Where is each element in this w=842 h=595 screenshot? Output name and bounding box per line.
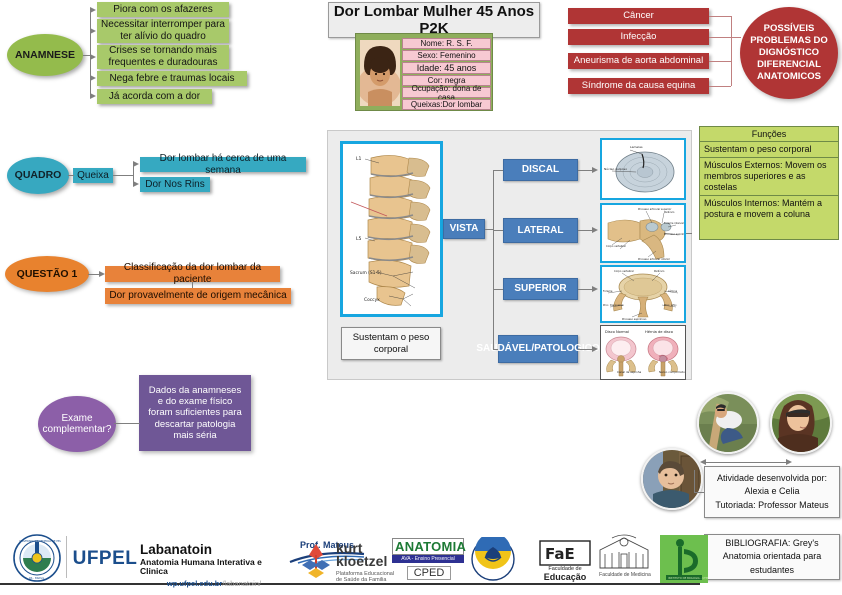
svg-text:Núcleo pulposo: Núcleo pulposo: [604, 167, 627, 171]
anamnese-item-5[interactable]: Já acorda com a dor: [97, 89, 212, 104]
connector: [68, 175, 74, 176]
credits-box: Atividade desenvolvida por: Alexia e Cel…: [704, 466, 840, 518]
title-line-1: Dor Lombar Mulher 45 Anos: [334, 3, 534, 20]
anamnese-item-2[interactable]: Necessitar interromper para ter alívio d…: [97, 19, 229, 43]
lateral-image: Processo articular superior Pedículo For…: [600, 203, 686, 263]
anamnese-item-4[interactable]: Nega febre e traumas locais: [97, 71, 247, 86]
anatomia-word: ANATOMIA: [392, 538, 464, 555]
svg-text:Pedículo: Pedículo: [664, 210, 675, 214]
quadro-mid[interactable]: Queixa: [73, 168, 113, 183]
connector: [192, 282, 193, 288]
kurt-kloetzel-icon: [295, 540, 337, 582]
bibliografia-box: BIBLIOGRAFIA: Grey's Anatomia orientada …: [704, 534, 840, 580]
funcoes-row: Músculos Externos: Movem os membros supe…: [700, 158, 838, 196]
connector: [694, 492, 704, 493]
spine-caption: Sustentam o peso corporal: [341, 327, 441, 360]
view-lateral[interactable]: LATERAL: [503, 218, 578, 243]
connector: [694, 470, 695, 492]
svg-text:L5: L5: [356, 236, 362, 242]
view-saudavel-patologico[interactable]: SAUDÁVEL/PATOLOGICO: [498, 335, 578, 363]
questao-node[interactable]: QUESTÃO 1: [5, 256, 89, 292]
faculdade-medicina-logo: Faculdade de Medicina: [592, 534, 658, 582]
labanatoin-url: wp.ufpel.edu.br/labanatoin/: [140, 579, 288, 588]
svg-text:Forame intervertebral: Forame intervertebral: [664, 221, 684, 225]
arrow-icon: [90, 28, 96, 34]
discal-image: Lamelas Núcleo pulposo: [600, 138, 686, 200]
svg-text:Corpo vertebral: Corpo vertebral: [606, 244, 626, 248]
diferencial-item-1[interactable]: Câncer: [568, 8, 709, 24]
quadro-label: QUADRO: [15, 169, 62, 181]
arrow-icon: [592, 346, 598, 352]
author-photo-2: [770, 392, 832, 454]
connector: [88, 274, 99, 275]
questao-item-2[interactable]: Dor provavelmente de origem mecânica: [105, 288, 291, 304]
connector: [83, 55, 90, 56]
exame-detail[interactable]: Dados da anamneses e do exame físico for…: [139, 375, 251, 451]
svg-text:Lamelas: Lamelas: [630, 145, 643, 149]
spine-lateral-image: L1 L5 Sacrum (S1-5) Coccyx: [340, 141, 443, 317]
svg-text:RS - BRASIL: RS - BRASIL: [29, 576, 45, 580]
svg-text:Coccyx: Coccyx: [364, 297, 380, 303]
exame-node[interactable]: Exame complementar?: [38, 396, 116, 452]
diferencial-item-2[interactable]: Infecção: [568, 29, 709, 45]
quadro-item-2[interactable]: Dor Nos Rins: [140, 177, 210, 192]
labanatoin-subtitle: Anatomia Humana Interativa e Clinica: [140, 558, 288, 577]
arrow-icon: [700, 459, 706, 465]
funcoes-row: Músculos Internos: Mantém a postura e mo…: [700, 196, 838, 222]
arrow-icon: [90, 7, 96, 13]
patient-photo: [360, 40, 400, 106]
connector: [493, 230, 503, 231]
svg-text:Hérnia de disco: Hérnia de disco: [645, 330, 673, 334]
patient-row: Sexo: Femenino: [402, 50, 491, 61]
connector: [113, 175, 133, 176]
svg-text:Corpo vertebral: Corpo vertebral: [614, 269, 634, 273]
connector: [731, 16, 732, 86]
patient-row: Idade: 45 anos: [402, 62, 491, 74]
arrow-icon: [592, 227, 598, 233]
arrow-icon: [592, 286, 598, 292]
diferencial-node[interactable]: POSSÍVEIS PROBLEMAS DO DIGNÓSTICO DIFERE…: [740, 7, 838, 99]
credit-line: Atividade desenvolvida por:: [717, 472, 827, 485]
anamnese-node[interactable]: ANAMNESE: [7, 34, 83, 76]
ava-bar: AVA - Ensino Presencial: [392, 555, 464, 563]
connector: [709, 86, 731, 87]
superior-image: Corpo vertebral Pedículo Forame Lâmina P…: [600, 265, 686, 323]
svg-text:Pedículo: Pedículo: [654, 269, 665, 273]
credit-line: Tutoriada: Professor Mateus: [715, 499, 828, 512]
connector: [493, 170, 494, 349]
svg-text:Processo espinhoso: Processo espinhoso: [622, 317, 647, 321]
svg-text:Disco Normal: Disco Normal: [605, 330, 629, 334]
svg-text:Lâmina: Lâmina: [668, 289, 678, 293]
patient-row: Queixas:Dor lombar: [402, 99, 491, 110]
svg-text:Canal da espinha: Canal da espinha: [617, 370, 641, 374]
view-discal[interactable]: DISCAL: [503, 159, 578, 181]
kurt-sub-2: de Saúde da Familia: [336, 577, 400, 584]
svg-text:Proc. artic.: Proc. artic.: [664, 303, 678, 307]
funcoes-row: Sustentam o peso corporal: [700, 142, 838, 158]
funcoes-header: Funções: [700, 127, 838, 142]
labanatoin-title: Labanatoin: [140, 543, 288, 557]
ib-logo: INSTITUTO DE BIOLOGIA - UFPEL: [660, 535, 708, 583]
anamnese-item-3[interactable]: Crises se tornando mais frequentes e dur…: [97, 45, 229, 69]
connector: [485, 229, 493, 230]
diferencial-item-3[interactable]: Aneurisma de aorta abdominal: [568, 53, 709, 69]
saudavel-patologico-image: Disco Normal Hérnia de disco Canal da es…: [600, 325, 686, 380]
anamnese-label: ANAMNESE: [15, 49, 75, 61]
svg-text:Sacrum (S1-5): Sacrum (S1-5): [350, 270, 382, 276]
svg-text:Nervo comprimido: Nervo comprimido: [659, 370, 685, 374]
fae-big-label: Educação: [537, 572, 593, 582]
footer-divider-line: [66, 536, 67, 578]
connector: [686, 233, 692, 234]
exame-label: Exame complementar?: [38, 413, 116, 436]
diferencial-label: POSSÍVEIS PROBLEMAS DO DIGNÓSTICO DIFERE…: [744, 23, 834, 82]
patient-row: Ocupação: dona de casa: [402, 87, 491, 98]
connector: [709, 37, 741, 38]
svg-text:Forame: Forame: [603, 289, 613, 293]
fae-logo: FaE Faculdade de Educação: [537, 540, 593, 582]
view-superior[interactable]: SUPERIOR: [503, 278, 578, 300]
svg-text:UNIVERSIDADE FEDERAL DE PELOTA: UNIVERSIDADE FEDERAL DE PELOTAS: [19, 539, 61, 543]
connector: [709, 61, 731, 62]
ufpel-seal-icon: UNIVERSIDADE FEDERAL DE PELOTAS RS - BRA…: [12, 533, 62, 583]
arrow-icon: [133, 161, 139, 167]
arrow-icon: [786, 459, 792, 465]
anatomia-cped-logo: ANATOMIA AVA - Ensino Presencial CPED: [392, 538, 464, 582]
ufpel-wordmark: UFPEL: [73, 546, 137, 572]
funcoes-table: Funções Sustentam o peso corporal Múscul…: [699, 126, 839, 240]
arrow-icon: [90, 54, 96, 60]
connector: [114, 423, 140, 424]
svg-text:INSTITUTO DE BIOLOGIA - UFPEL: INSTITUTO DE BIOLOGIA - UFPEL: [668, 576, 708, 580]
questao-item-1[interactable]: Classificação da dor lombar da paciente: [105, 266, 280, 282]
kurt-kloetzel-wordmark: kurt kloetzel Plataforma Educacional de …: [336, 542, 400, 582]
diferencial-item-4[interactable]: Síndrome da causa equina: [568, 78, 709, 94]
author-photo-1: [697, 392, 759, 454]
bibliografia-text: BIBLIOGRAFIA: Grey's Anatomia orientada …: [705, 537, 839, 576]
anamnese-item-1[interactable]: Piora com os afazeres: [97, 2, 229, 17]
svg-text:Processo espinhoso: Processo espinhoso: [664, 232, 684, 236]
kurt-line-2: kloetzel: [336, 555, 400, 568]
arrow-icon: [99, 271, 105, 277]
arrow-icon: [133, 181, 139, 187]
patient-row: Nome: R. S. F.: [402, 38, 491, 49]
kurt-sub-1: Plataforma Educacional: [336, 571, 400, 578]
svg-text:Proc. transverso: Proc. transverso: [603, 303, 624, 307]
connector: [493, 170, 503, 171]
credit-line: Alexia e Celia: [744, 485, 799, 498]
svg-text:Processo articular inferior: Processo articular inferior: [638, 257, 671, 261]
faculdade-medicina-label: Faculdade de Medicina: [592, 572, 658, 578]
connector: [703, 462, 789, 463]
vista-node[interactable]: VISTA: [443, 219, 485, 239]
arrow-icon: [90, 75, 96, 81]
questao-label: QUESTÃO 1: [17, 268, 78, 280]
quadro-item-1[interactable]: Dor lombar há cerca de uma semana: [140, 157, 306, 172]
cped-label: CPED: [407, 566, 451, 580]
labanatoin-logo: Labanatoin Anatomia Humana Interativa e …: [140, 543, 288, 581]
arrow-icon: [592, 167, 598, 173]
quadro-node[interactable]: QUADRO: [7, 157, 69, 194]
patient-card: Nome: R. S. F. Sexo: Femenino Idade: 45 …: [355, 33, 493, 111]
bird-seal-icon: [470, 536, 516, 582]
connector: [709, 16, 731, 17]
arrow-icon: [90, 93, 96, 99]
connector: [493, 289, 503, 290]
svg-text:FaE: FaE: [545, 545, 575, 563]
svg-text:L1: L1: [356, 156, 362, 162]
connector: [493, 349, 498, 350]
